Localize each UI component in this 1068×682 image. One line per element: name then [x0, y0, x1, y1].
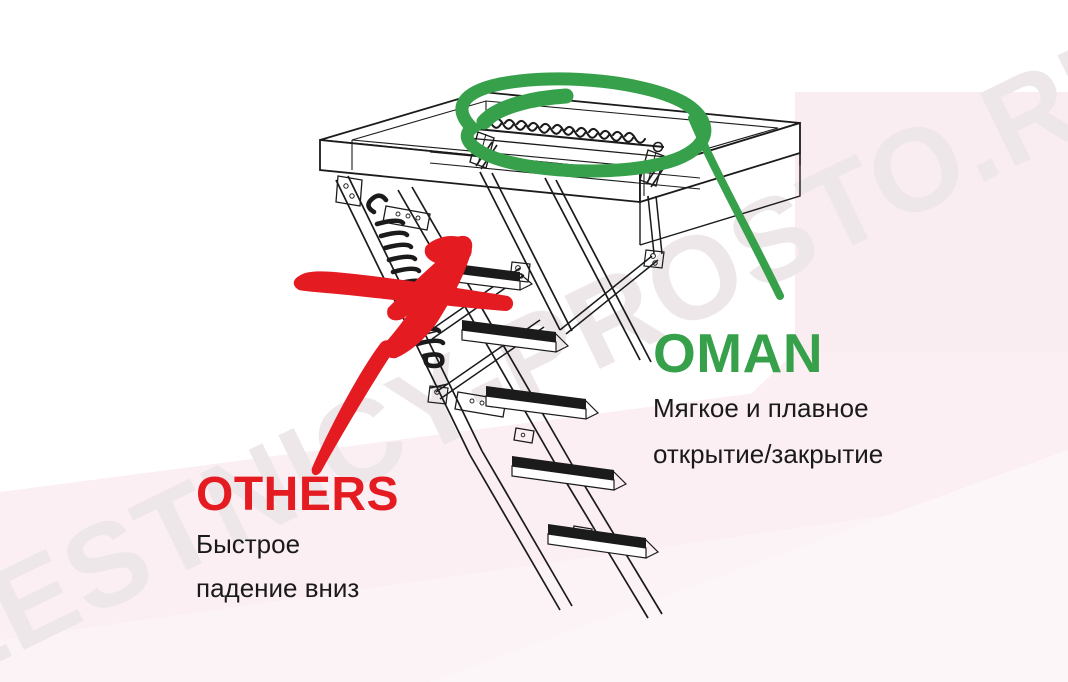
others-subtitle-line1: Быстрое: [196, 526, 399, 563]
others-subtitle-line2: падение вниз: [196, 570, 399, 607]
oman-subtitle-line1: Мягкое и плавное: [653, 390, 883, 427]
others-title: OTHERS: [196, 471, 399, 519]
oman-label-block: OMAN Мягкое и плавное открытие/закрытие: [653, 326, 883, 473]
oman-title: OMAN: [653, 326, 883, 381]
oman-subtitle-line2: открытие/закрытие: [653, 436, 883, 473]
image-canvas: LESTNICY-PROSTO.RU: [0, 0, 1068, 682]
others-label-block: OTHERS Быстрое падение вниз: [196, 471, 399, 607]
